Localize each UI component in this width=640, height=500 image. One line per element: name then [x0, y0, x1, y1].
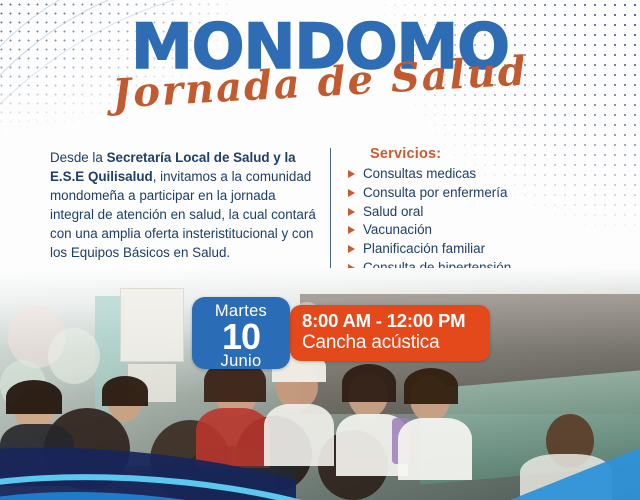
- photo-staff-coat: [398, 418, 472, 480]
- photo-whiteboard: [120, 288, 184, 362]
- triangle-bullet-icon: [348, 245, 355, 253]
- invitation-lead: Desde la: [50, 150, 107, 165]
- list-item: Consultas medicas: [348, 165, 618, 183]
- photo-person-coat: [264, 404, 334, 466]
- venue-name: Cancha acústica: [302, 332, 490, 353]
- photo-person-body: [0, 424, 74, 486]
- service-label: Salud oral: [363, 203, 423, 221]
- photo-person-hair: [102, 376, 148, 406]
- list-item: Vacunación: [348, 221, 618, 239]
- list-item: Consulta por enfermería: [348, 184, 618, 202]
- photo-balloon: [48, 328, 100, 384]
- photo-person-hair: [342, 364, 396, 402]
- photo-person-hair: [6, 380, 62, 414]
- event-photograph: [0, 268, 640, 500]
- service-label: Planificación familiar: [363, 240, 485, 258]
- triangle-bullet-icon: [348, 226, 355, 234]
- content-columns: Desde la Secretaría Local de Salud y la …: [0, 140, 640, 285]
- date-badge: Martes 10 Junio: [192, 297, 290, 369]
- service-label: Vacunación: [363, 221, 432, 239]
- invitation-paragraph: Desde la Secretaría Local de Salud y la …: [50, 148, 320, 262]
- photo-person-hair: [404, 368, 458, 404]
- services-heading: Servicios:: [370, 146, 618, 162]
- poster-header: MONDOMO Jornada de Salud: [0, 0, 640, 135]
- photo-foreground-bench: [96, 466, 296, 500]
- time-range: 8:00 AM - 12:00 PM: [302, 311, 490, 332]
- health-fair-poster: MONDOMO Jornada de Salud Desde la Secret…: [0, 0, 640, 500]
- triangle-bullet-icon: [348, 208, 355, 216]
- time-venue-badge: 8:00 AM - 12:00 PM Cancha acústica: [290, 305, 490, 361]
- photo-person-body: [520, 454, 612, 500]
- list-item: Salud oral: [348, 203, 618, 221]
- date-month: Junio: [192, 353, 290, 370]
- date-day: 10: [192, 320, 290, 354]
- triangle-bullet-icon: [348, 189, 355, 197]
- service-label: Consultas medicas: [363, 165, 476, 183]
- column-divider: [330, 148, 331, 288]
- triangle-bullet-icon: [348, 170, 355, 178]
- photo-person-shirt: [196, 408, 270, 468]
- service-label: Consulta por enfermería: [363, 184, 507, 202]
- list-item: Planificación familiar: [348, 240, 618, 258]
